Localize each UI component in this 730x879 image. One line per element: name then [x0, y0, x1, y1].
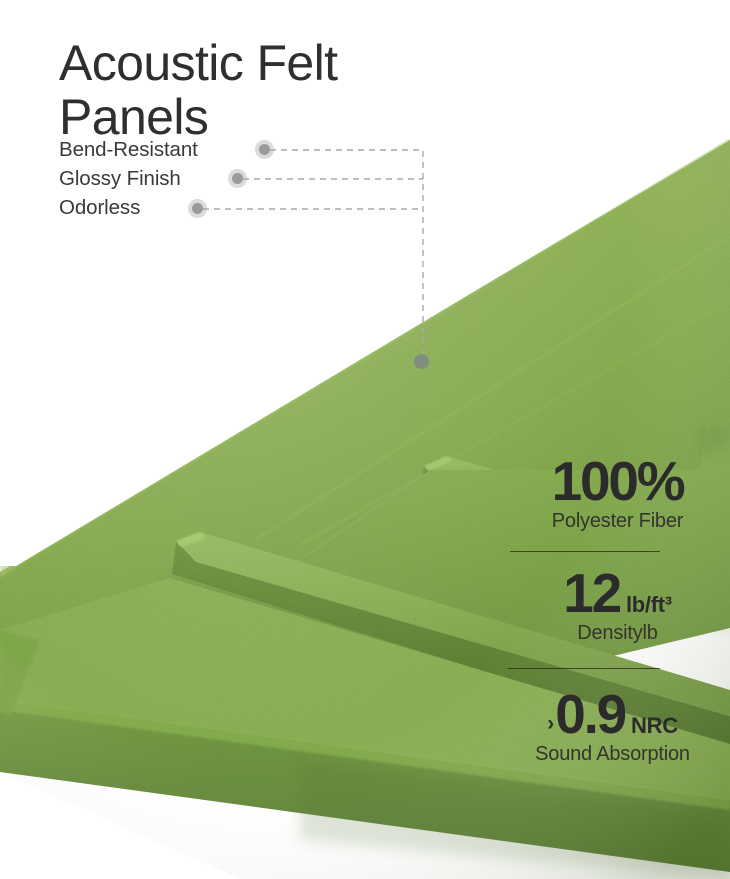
feature-list: Bend-Resistant Glossy Finish Odorless — [59, 135, 319, 222]
product-poster: Acoustic Felt Panels Bend-Resistant Glos… — [0, 0, 730, 879]
spec-value: 100% — [552, 455, 684, 507]
spec-value: 12 — [563, 567, 620, 619]
text-overlay: Acoustic Felt Panels Bend-Resistant Glos… — [0, 0, 730, 879]
connector-dot-bend-resistant — [259, 144, 270, 155]
spec-unit: lb/ft³ — [626, 592, 672, 618]
spec-caption: Sound Absorption — [495, 743, 730, 766]
connector-dot-product-target — [414, 354, 429, 369]
feature-item-glossy-finish: Glossy Finish — [59, 164, 319, 193]
greater-than-icon: › — [547, 712, 554, 736]
connector-dot-odorless — [192, 203, 203, 214]
connector-dot-glossy-finish — [232, 173, 243, 184]
spec-caption: Densitylb — [505, 622, 730, 645]
feature-item-bend-resistant: Bend-Resistant — [59, 135, 319, 164]
spec-divider-1 — [510, 551, 660, 552]
spec-unit: NRC — [631, 713, 678, 739]
spec-divider-2 — [508, 668, 660, 669]
spec-density: 12 lb/ft³ Densitylb — [505, 567, 730, 645]
spec-caption: Polyester Fiber — [505, 510, 730, 533]
spec-polyester-fiber: 100% Polyester Fiber — [505, 455, 730, 533]
spec-value-row: › 0.9 NRC — [495, 688, 730, 740]
spec-sound-absorption: › 0.9 NRC Sound Absorption — [495, 688, 730, 766]
spec-value: 0.9 — [555, 688, 625, 740]
page-title: Acoustic Felt Panels — [59, 36, 489, 144]
feature-item-odorless: Odorless — [59, 193, 319, 222]
spec-value-row: 100% — [505, 455, 730, 507]
spec-value-row: 12 lb/ft³ — [505, 567, 730, 619]
